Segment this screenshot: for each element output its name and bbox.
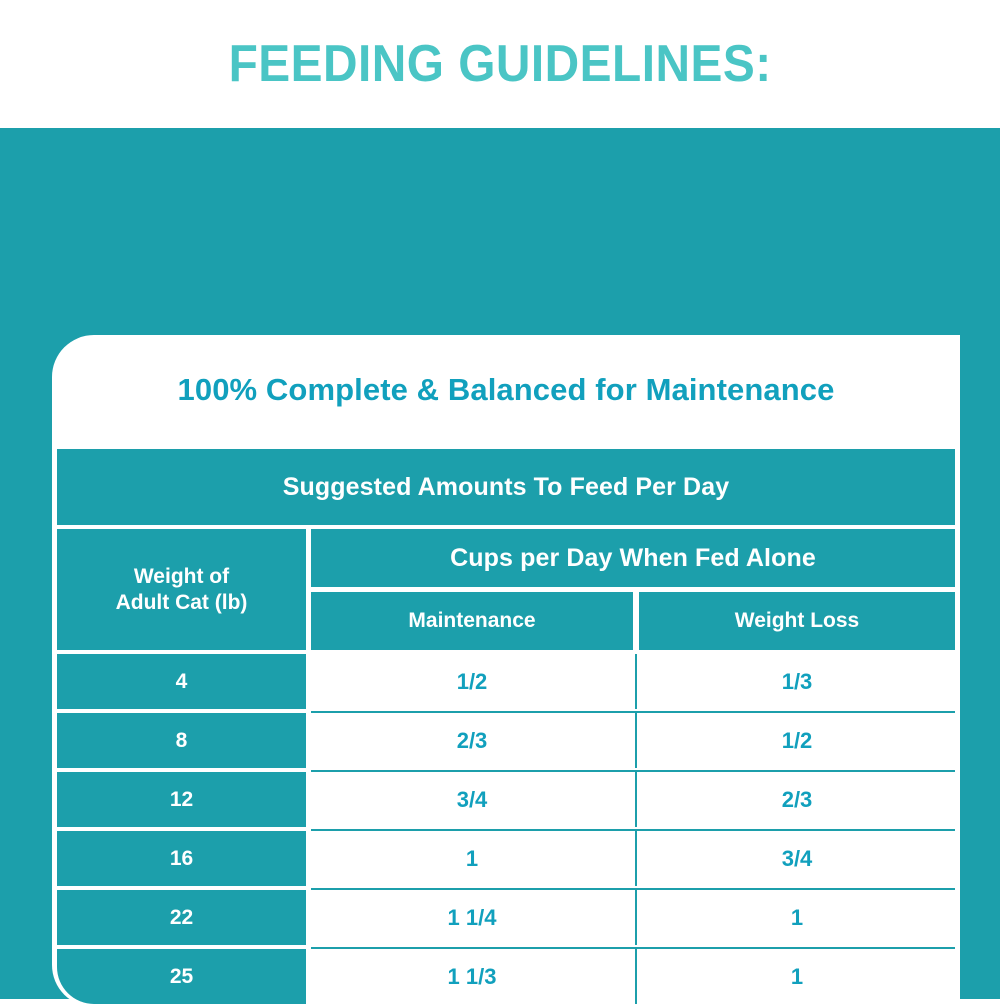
column-divider: [635, 831, 637, 886]
cell-weight-loss: 1/2: [639, 713, 955, 768]
column-divider: [635, 890, 637, 945]
cell-weight: 16: [57, 831, 306, 886]
teal-background: 100% Complete & Balanced for Maintenance…: [0, 128, 1000, 999]
column-divider: [635, 713, 637, 768]
column-divider: [635, 654, 637, 709]
column-divider: [635, 949, 637, 1004]
column-header-weight-loss: Weight Loss: [639, 592, 955, 650]
feeding-table: Suggested Amounts To Feed Per Day Weight…: [57, 449, 955, 1007]
cell-weight-loss: 1: [639, 890, 955, 945]
column-group-header-cups: Cups per Day When Fed Alone: [311, 529, 955, 587]
table-header: Weight of Adult Cat (lb) Cups per Day Wh…: [57, 529, 955, 650]
table-band-title: Suggested Amounts To Feed Per Day: [57, 449, 955, 525]
cell-weight: 8: [57, 713, 306, 768]
table-row: 221 1/41: [57, 890, 955, 945]
column-header-maintenance: Maintenance: [311, 592, 633, 650]
cell-weight: 12: [57, 772, 306, 827]
table-body: 41/21/382/31/2123/42/31613/4221 1/41251 …: [57, 654, 955, 1007]
cell-weight: 4: [57, 654, 306, 709]
guidelines-card: 100% Complete & Balanced for Maintenance…: [52, 335, 960, 1007]
card-title: 100% Complete & Balanced for Maintenance: [52, 373, 960, 407]
cell-maintenance: 3/4: [311, 772, 633, 827]
cell-maintenance: 1/2: [311, 654, 633, 709]
cell-weight-loss: 2/3: [639, 772, 955, 827]
column-header-weight-line1: Weight of: [116, 564, 248, 590]
column-divider: [635, 772, 637, 827]
cell-weight-loss: 1: [639, 949, 955, 1004]
table-row: 123/42/3: [57, 772, 955, 827]
cell-maintenance: 1: [311, 831, 633, 886]
column-header-weight: Weight of Adult Cat (lb): [57, 529, 306, 650]
cell-maintenance: 1 1/4: [311, 890, 633, 945]
cell-weight: 25: [57, 949, 306, 1004]
page-title: FEEDING GUIDELINES:: [228, 38, 771, 90]
cell-maintenance: 2/3: [311, 713, 633, 768]
cell-weight: 22: [57, 890, 306, 945]
cell-weight-loss: 3/4: [639, 831, 955, 886]
column-header-weight-line2: Adult Cat (lb): [116, 590, 248, 616]
table-row: 41/21/3: [57, 654, 955, 709]
feeding-guidelines-page: FEEDING GUIDELINES: 100% Complete & Bala…: [0, 0, 1000, 999]
cell-weight-loss: 1/3: [639, 654, 955, 709]
headline-band: FEEDING GUIDELINES:: [0, 0, 1000, 128]
cell-maintenance: 1 1/3: [311, 949, 633, 1004]
table-row: 251 1/31: [57, 949, 955, 1004]
table-row: 82/31/2: [57, 713, 955, 768]
table-row: 1613/4: [57, 831, 955, 886]
